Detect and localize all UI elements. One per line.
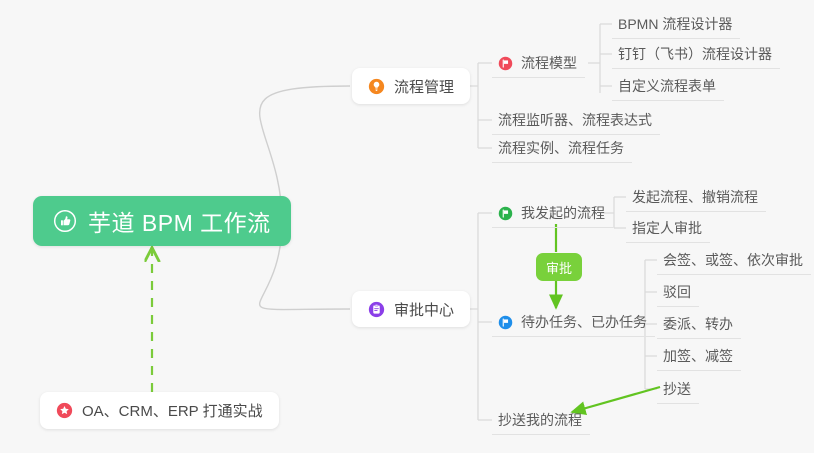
lightbulb-icon (368, 78, 385, 95)
oa-crm-erp-note-card[interactable]: OA、CRM、ERP 打通实战 (40, 392, 279, 429)
branch-label: 审批中心 (394, 299, 454, 320)
node-todo-done-tasks[interactable]: 待办任务、已办任务 (492, 308, 655, 337)
root-label: 芋道 BPM 工作流 (88, 204, 271, 238)
node-process-model[interactable]: 流程模型 (492, 49, 585, 78)
node-process-listener-expression[interactable]: 流程监听器、流程表达式 (492, 106, 660, 135)
node-start-cancel-process[interactable]: 发起流程、撤销流程 (626, 183, 766, 212)
node-countersign-orsign-sequential[interactable]: 会签、或签、依次审批 (657, 246, 811, 275)
node-reject[interactable]: 驳回 (657, 278, 699, 307)
note-label: OA、CRM、ERP 打通实战 (82, 400, 263, 421)
node-custom-process-form[interactable]: 自定义流程表单 (612, 72, 724, 101)
clipboard-icon (368, 301, 385, 318)
node-label: 加签、减签 (663, 346, 733, 366)
node-label: 流程模型 (521, 53, 577, 73)
flag-icon (498, 56, 513, 71)
node-label: 发起流程、撤销流程 (632, 187, 758, 207)
node-label: 指定人审批 (632, 218, 702, 238)
approval-flow-badge[interactable]: 审批 (536, 253, 582, 281)
node-label: 流程实例、流程任务 (498, 138, 624, 158)
node-label: 待办任务、已办任务 (521, 312, 647, 332)
flag-icon (498, 206, 513, 221)
node-label: 驳回 (663, 282, 691, 302)
node-cc[interactable]: 抄送 (657, 375, 699, 404)
star-icon (56, 402, 73, 419)
node-process-instance-task[interactable]: 流程实例、流程任务 (492, 134, 632, 163)
node-label: 自定义流程表单 (618, 76, 716, 96)
branch-process-management[interactable]: 流程管理 (352, 68, 470, 104)
badge-label: 审批 (546, 258, 572, 277)
thumbs-up-circle-icon (53, 209, 77, 233)
node-label: 流程监听器、流程表达式 (498, 110, 652, 130)
node-label: 钉钉（飞书）流程设计器 (618, 44, 772, 64)
node-label: BPMN 流程设计器 (618, 14, 732, 34)
node-bpmn-designer[interactable]: BPMN 流程设计器 (612, 10, 740, 39)
branch-approval-center[interactable]: 审批中心 (352, 291, 470, 327)
node-label: 会签、或签、依次审批 (663, 250, 803, 270)
node-label: 我发起的流程 (521, 203, 605, 223)
node-cc-to-me-process[interactable]: 抄送我的流程 (492, 406, 590, 435)
flag-icon (498, 315, 513, 330)
node-add-remove-sign[interactable]: 加签、减签 (657, 342, 741, 371)
node-label: 抄送我的流程 (498, 410, 582, 430)
node-label: 抄送 (663, 379, 691, 399)
node-designated-approver[interactable]: 指定人审批 (626, 214, 710, 243)
node-dingtalk-feishu-designer[interactable]: 钉钉（飞书）流程设计器 (612, 40, 780, 69)
root-node[interactable]: 芋道 BPM 工作流 (33, 196, 291, 246)
node-delegate-transfer[interactable]: 委派、转办 (657, 310, 741, 339)
node-my-initiated-process[interactable]: 我发起的流程 (492, 199, 613, 228)
branch-label: 流程管理 (394, 76, 454, 97)
mindmap-canvas: 芋道 BPM 工作流 流程管理 流程模型 BPMN 流程设计器 钉钉（飞书）流程 (0, 0, 814, 453)
node-label: 委派、转办 (663, 314, 733, 334)
